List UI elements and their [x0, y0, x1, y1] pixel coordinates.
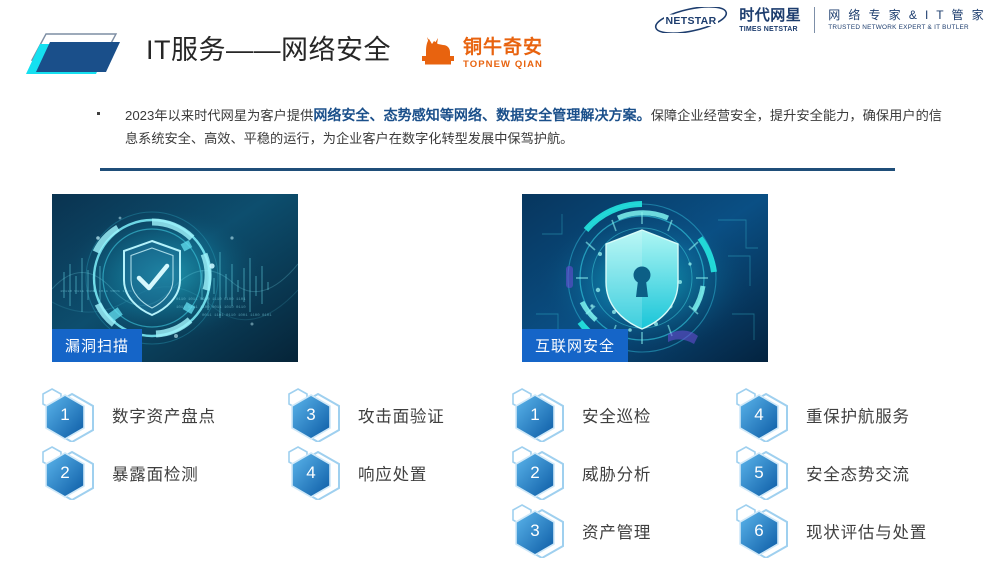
hexagon-badge-icon: 1 [512, 388, 574, 442]
list-item[interactable]: 3 资产管理 [512, 502, 651, 560]
hexagon-number: 6 [739, 512, 779, 550]
svg-text:0011 1101 0110 1001 1100 0101: 0011 1101 0110 1001 1100 0101 [202, 314, 272, 318]
section-divider [100, 168, 895, 171]
orange-bull-logo-icon [418, 34, 458, 73]
bullet-text: 2023年以来时代网星为客户提供网络安全、态势感知等网络、数据安全管理解决方案。… [125, 104, 942, 150]
hex-column-4: 4 重保护航服务 5 安全态势交流 6 [736, 386, 927, 560]
hexagon-number: 3 [515, 512, 555, 550]
list-item[interactable]: 1 数字资产盘点 [42, 386, 216, 444]
hexagon-badge-icon: 2 [512, 446, 574, 500]
hexagon-badge-icon: 3 [512, 504, 574, 558]
picture-label-internet-security: 互联网安全 [522, 329, 628, 362]
picture-card-vulnerability-scan: 10110 0111 0100 1011 0001 1001 0110 1011… [52, 194, 298, 362]
hexagon-badge-icon: 4 [288, 446, 350, 500]
hexagon-number: 4 [291, 454, 331, 492]
list-item[interactable]: 6 现状评估与处置 [736, 502, 927, 560]
hexagon-number: 2 [515, 454, 555, 492]
hexagon-badge-icon: 1 [42, 388, 104, 442]
hexagon-number: 3 [291, 396, 331, 434]
brand-name-block: 铜牛奇安 TOPNEW QIAN [463, 38, 543, 70]
bullet-lead: 2023年以来时代网星为客户提供 [125, 108, 313, 123]
list-item-label: 响应处置 [358, 461, 427, 485]
hexagon-number: 1 [45, 396, 85, 434]
hexagon-badge-icon: 5 [736, 446, 798, 500]
list-item[interactable]: 4 重保护航服务 [736, 386, 927, 444]
tagline-cn: 网 络 专 家 & I T 管 家 [828, 9, 986, 21]
stacked-parallelogram-deco-icon [24, 30, 134, 80]
list-item[interactable]: 2 威胁分析 [512, 444, 651, 502]
list-item-label: 重保护航服务 [806, 403, 910, 427]
list-item[interactable]: 5 安全态势交流 [736, 444, 927, 502]
list-item-label: 资产管理 [582, 519, 651, 543]
bullet-marker-icon [97, 112, 100, 115]
hex-column-1: 1 数字资产盘点 2 暴露面检测 [42, 386, 216, 502]
title-row: IT服务——网络安全 铜牛奇安 TOPNEW QIAN [0, 26, 1000, 86]
list-item-label: 攻击面验证 [358, 403, 445, 427]
list-item-label: 数字资产盘点 [112, 403, 216, 427]
hexagon-number: 4 [739, 396, 779, 434]
list-item[interactable]: 3 攻击面验证 [288, 386, 445, 444]
hexagon-badge-icon: 6 [736, 504, 798, 558]
list-item[interactable]: 2 暴露面检测 [42, 444, 216, 502]
hexagon-number: 2 [45, 454, 85, 492]
hex-column-3: 1 安全巡检 2 威胁分析 3 [512, 386, 651, 560]
svg-text:0110 1011 0010 1110 0100 1101: 0110 1011 0010 1110 0100 1101 [176, 298, 246, 302]
picture-card-internet-security: 互联网安全 [522, 194, 768, 362]
list-item[interactable]: 1 安全巡检 [512, 386, 651, 444]
slide-root: NETSTAR 时代网星 TIMES NETSTAR 网 络 专 家 & I T… [0, 0, 1000, 563]
hexagon-badge-icon: 3 [288, 388, 350, 442]
list-item[interactable]: 4 响应处置 [288, 444, 445, 502]
list-item-label: 威胁分析 [582, 461, 651, 485]
list-item-label: 暴露面检测 [112, 461, 199, 485]
list-item-label: 安全巡检 [582, 403, 651, 427]
hexagon-number: 5 [739, 454, 779, 492]
list-item-label: 现状评估与处置 [806, 519, 927, 543]
list-item-label: 安全态势交流 [806, 461, 910, 485]
bullet-highlight: 网络安全、态势感知等网络、数据安全管理解决方案。 [313, 107, 650, 123]
brand-name-en: TOPNEW QIAN [463, 60, 543, 70]
corporate-name-cn: 时代网星 [739, 8, 801, 23]
brand-logo: 铜牛奇安 TOPNEW QIAN [418, 34, 543, 73]
hexagon-badge-icon: 2 [42, 446, 104, 500]
page-title: IT服务——网络安全 [146, 28, 391, 67]
picture-label-vulnerability-scan: 漏洞扫描 [52, 329, 142, 362]
hexagon-badge-icon: 4 [736, 388, 798, 442]
hexagon-number: 1 [515, 396, 555, 434]
bullet-paragraph: 2023年以来时代网星为客户提供网络安全、态势感知等网络、数据安全管理解决方案。… [97, 104, 942, 150]
brand-name-cn: 铜牛奇安 [463, 38, 543, 57]
hex-column-2: 3 攻击面验证 4 响应处置 [288, 386, 445, 502]
